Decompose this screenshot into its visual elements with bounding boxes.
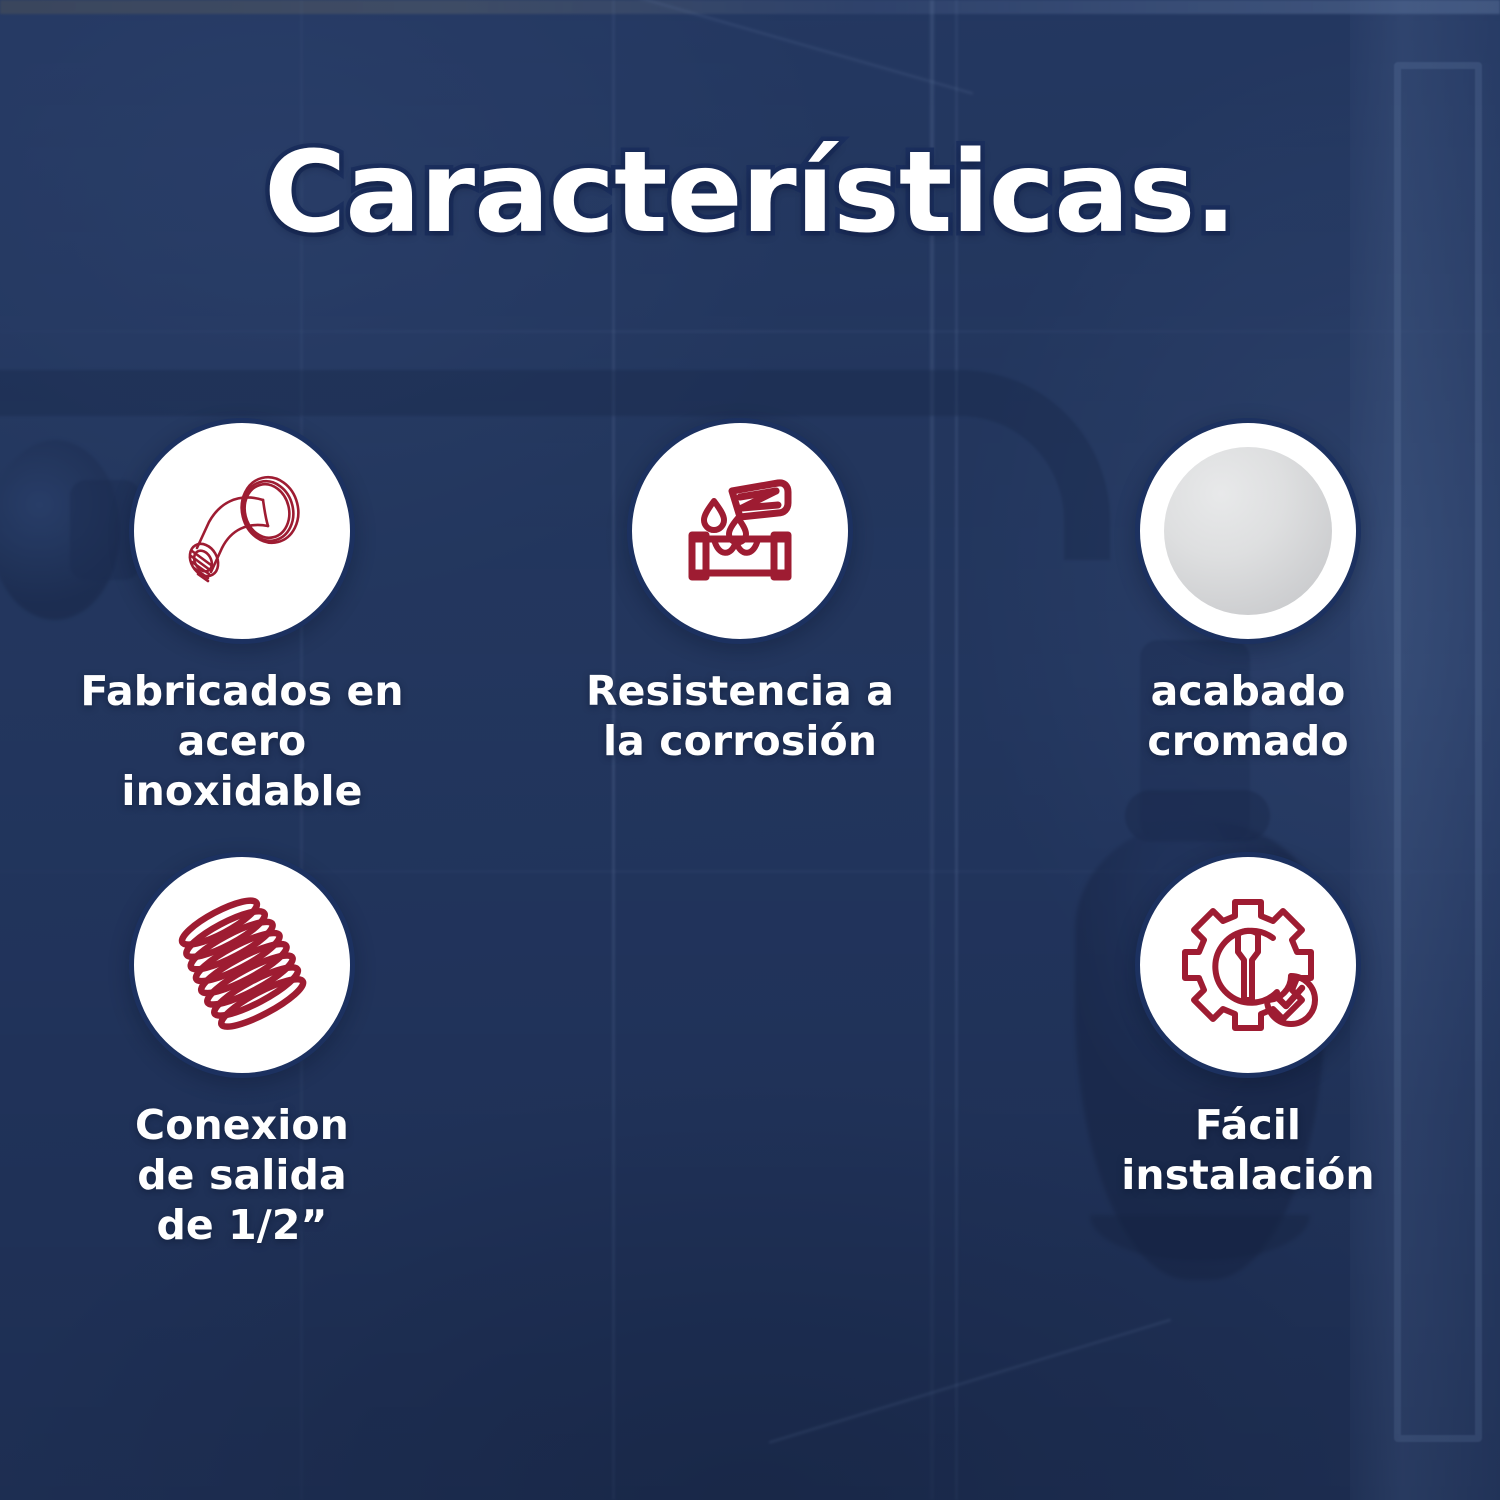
threaded-connection-icon <box>166 889 318 1041</box>
feature-label: Fácil instalación <box>1078 1100 1418 1200</box>
feature-label: acabado cromado <box>1078 666 1418 766</box>
chrome-finish-swatch-icon <box>1164 447 1332 615</box>
badge-circle <box>627 418 853 644</box>
feature-label: Resistencia a la corrosión <box>570 666 910 766</box>
feature-outlet-connection: Conexion de salida de 1/2” <box>72 852 412 1250</box>
feature-label: Conexion de salida de 1/2” <box>72 1100 412 1250</box>
gear-wrench-check-icon <box>1173 890 1323 1040</box>
poster-content: Características. <box>0 0 1500 1500</box>
feature-chrome-finish: acabado cromado <box>1078 418 1418 766</box>
badge-circle <box>129 852 355 1078</box>
shower-arm-icon <box>167 456 317 606</box>
feature-label: Fabricados en acero inoxidable <box>72 666 412 816</box>
feature-corrosion-resistance: Resistencia a la corrosión <box>570 418 910 766</box>
corrosion-drip-pipe-icon <box>670 461 810 601</box>
page-title: Características. <box>0 128 1500 258</box>
badge-circle <box>1135 418 1361 644</box>
badge-circle <box>129 418 355 644</box>
badge-circle <box>1135 852 1361 1078</box>
features-poster: Características. <box>0 0 1500 1500</box>
feature-easy-installation: Fácil instalación <box>1078 852 1418 1200</box>
feature-stainless-steel: Fabricados en acero inoxidable <box>72 418 412 816</box>
